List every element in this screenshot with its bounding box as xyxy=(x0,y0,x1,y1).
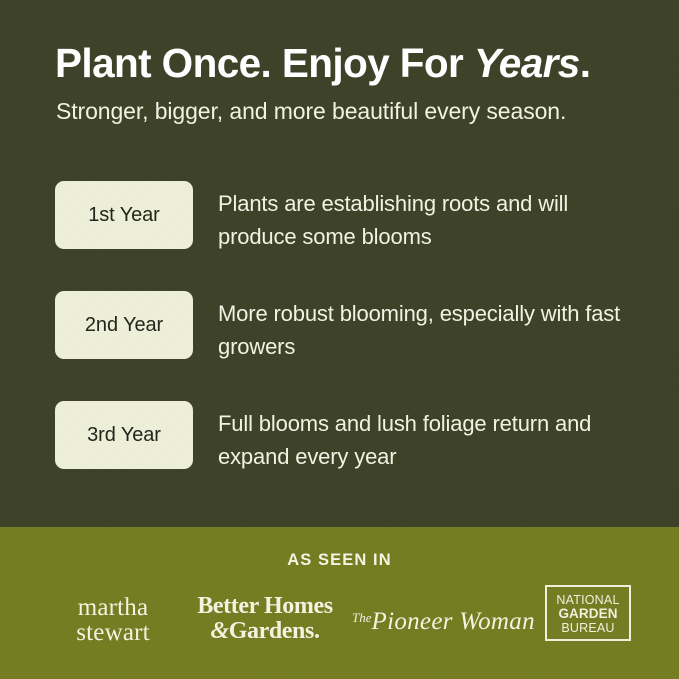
year-badge-3: 3rd Year xyxy=(55,401,193,469)
as-seen-in-heading: AS SEEN IN xyxy=(0,551,679,570)
year-badge-label-1: 1st Year xyxy=(88,205,160,225)
bhg-logo-line2: &Gardens. xyxy=(180,619,350,644)
ngb-logo-line1: NATIONAL xyxy=(556,593,619,607)
headline-text-part1: Plant Once. Enjoy For xyxy=(55,40,474,86)
year-description-3: Full blooms and lush foliage return and … xyxy=(218,407,648,473)
martha-stewart-logo: martha stewart xyxy=(38,595,188,645)
year-description-2: More robust blooming, especially with fa… xyxy=(218,297,648,363)
year-stage-row-1: 1st Year Plants are establishing roots a… xyxy=(0,181,679,291)
year-badge-2: 2nd Year xyxy=(55,291,193,359)
page-title: Plant Once. Enjoy For Years. xyxy=(55,40,655,86)
year-badge-label-2: 2nd Year xyxy=(85,315,163,335)
year-stage-row-2: 2nd Year More robust blooming, especiall… xyxy=(0,291,679,401)
ngb-logo-line3: BUREAU xyxy=(561,621,614,635)
ngb-logo-line2: GARDEN xyxy=(558,607,617,621)
top-panel: Plant Once. Enjoy For Years. Stronger, b… xyxy=(0,0,679,527)
bhg-logo-line1: Better Homes xyxy=(180,594,350,619)
national-garden-bureau-logo: NATIONAL GARDEN BUREAU xyxy=(545,585,631,641)
the-pioneer-woman-logo: ThePioneer Woman xyxy=(352,605,527,635)
bhg-logo-line2-text: Gardens. xyxy=(229,618,320,644)
year-badge-label-3: 3rd Year xyxy=(87,425,161,445)
ampersand-icon: & xyxy=(210,618,228,644)
year-description-1: Plants are establishing roots and will p… xyxy=(218,187,648,253)
year-stage-list: 1st Year Plants are establishing roots a… xyxy=(0,181,679,511)
martha-stewart-logo-line2: stewart xyxy=(38,620,188,645)
page-subtitle: Stronger, bigger, and more beautiful eve… xyxy=(56,96,656,126)
press-logo-strip: martha stewart Better Homes &Gardens. Th… xyxy=(0,583,679,679)
year-stage-row-3: 3rd Year Full blooms and lush foliage re… xyxy=(0,401,679,511)
tpw-logo-main: Pioneer Woman xyxy=(372,608,535,635)
press-band: AS SEEN IN martha stewart Better Homes &… xyxy=(0,527,679,679)
year-badge-1: 1st Year xyxy=(55,181,193,249)
headline-text-part2: . xyxy=(580,40,591,86)
martha-stewart-logo-line1: martha xyxy=(38,595,188,620)
tpw-logo-the: The xyxy=(352,610,372,625)
headline-emphasis: Years xyxy=(474,40,580,86)
growth-timeline-infographic: Plant Once. Enjoy For Years. Stronger, b… xyxy=(0,0,679,679)
better-homes-and-gardens-logo: Better Homes &Gardens. xyxy=(180,594,350,644)
